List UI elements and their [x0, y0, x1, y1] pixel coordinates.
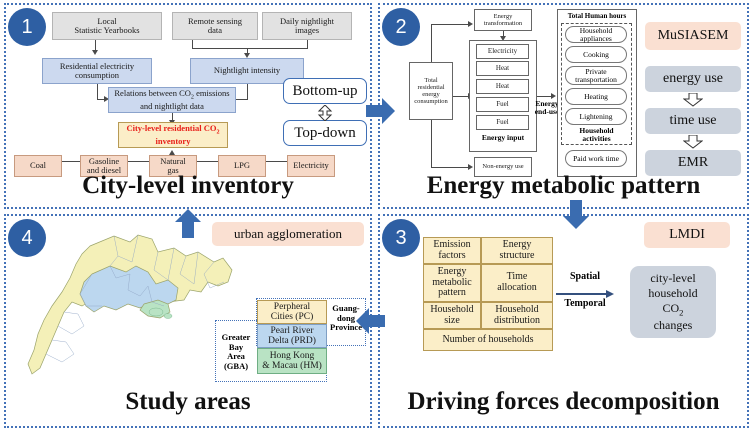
- node-label: LocalStatistic Yearbooks: [74, 17, 139, 35]
- cell-energy-metabolic-pattern: Energymetabolicpattern: [423, 264, 481, 302]
- connector: [192, 48, 247, 49]
- node-label: Remote sensingdata: [188, 17, 242, 35]
- label-spatial: Spatial: [556, 271, 614, 282]
- legend-label: PerpheralCities (PC): [271, 302, 314, 323]
- tag-lmdi: LMDI: [644, 222, 730, 248]
- cell-emission-factors: Emissionfactors: [423, 237, 481, 264]
- arrowhead: [468, 21, 473, 27]
- node-label: Fuel: [496, 119, 508, 127]
- node-relations-co2-nightlight: Relations between CO2 emissionsand night…: [108, 87, 236, 113]
- flow-arrow-q3-to-q4-icon: [355, 306, 385, 341]
- node-label: Relations between CO2 emissionsand night…: [114, 89, 229, 110]
- node-label: Heat: [496, 83, 509, 91]
- guangdong-map: [18, 222, 248, 382]
- spatial-temporal-arrow-icon: [556, 286, 614, 304]
- node-label: city-levelhouseholdCO2changes: [648, 271, 697, 333]
- node-activity-cooking: Cooking: [565, 46, 627, 63]
- node-label: Bottom-up: [292, 83, 357, 100]
- node-label: Top-down: [294, 125, 355, 142]
- node-local-statistic-yearbooks: LocalStatistic Yearbooks: [52, 12, 162, 40]
- node-label: Coal: [30, 161, 46, 170]
- node-total-residential-energy-consumption: Totalresidentialenergyconsumption: [409, 62, 453, 120]
- label-total-human-hours: Total Human hours: [557, 12, 637, 20]
- node-label: Nightlight intensity: [214, 66, 280, 75]
- node-label: Electricity: [488, 48, 517, 56]
- tag-label: LMDI: [669, 227, 705, 243]
- node-label: Fuel: [496, 101, 508, 109]
- node-label: City-level residential CO2inventory: [126, 124, 219, 145]
- cell-label: Householddistribution: [494, 305, 540, 327]
- tag-label: time use: [669, 113, 716, 129]
- node-label: Totalresidentialenergyconsumption: [414, 77, 448, 105]
- quadrant-2-badge: 2: [382, 8, 420, 46]
- cell-household-size: Householdsize: [423, 302, 481, 329]
- node-energy-input-fuel-1: Fuel: [476, 97, 529, 112]
- node-city-level-household-co2-changes: city-levelhouseholdCO2changes: [630, 266, 716, 338]
- cell-label: Energystructure: [500, 240, 535, 262]
- node-label: Energytransformation: [484, 13, 522, 27]
- quadrant-4-caption: Study areas: [4, 388, 372, 416]
- quadrant-2-caption: Energy metabolic pattern: [378, 172, 749, 200]
- connector: [247, 84, 248, 100]
- quadrant-3-badge: 3: [382, 219, 420, 257]
- node-energy-input-fuel-2: Fuel: [476, 115, 529, 130]
- cell-energy-structure: Energystructure: [481, 237, 553, 264]
- node-city-level-residential-co2-inventory: City-level residential CO2inventory: [118, 122, 228, 148]
- node-energy-input-heat-1: Heat: [476, 61, 529, 76]
- node-label: Paid work time: [573, 155, 619, 163]
- cell-label: Energymetabolicpattern: [432, 267, 471, 299]
- tag-label: MuSIASEM: [658, 28, 729, 44]
- cell-number-of-households: Number of households: [423, 329, 553, 351]
- node-energy-input-electricity: Electricity: [476, 44, 529, 59]
- legend-cell-pearl-river-delta: Pearl RiverDelta (PRD): [257, 324, 327, 348]
- quadrant-4-badge: 4: [8, 219, 46, 257]
- quadrant-1-caption: City-level inventory: [4, 172, 372, 200]
- connector: [431, 167, 470, 168]
- label-household-activities: Householdactivities: [561, 127, 632, 144]
- tag-label: energy use: [663, 71, 723, 87]
- cell-label: Number of households: [442, 335, 533, 346]
- node-label: Electricity: [293, 161, 328, 170]
- node-paid-work-time: Paid work time: [565, 150, 627, 167]
- node-label: LPG: [234, 161, 250, 170]
- connector: [431, 24, 432, 62]
- figure-canvas: 1 LocalStatistic Yearbooks Remote sensin…: [0, 0, 753, 432]
- node-label: Heat: [496, 65, 509, 73]
- connector: [97, 84, 98, 100]
- tag-urban-agglomeration: urban agglomeration: [212, 222, 364, 246]
- legend-label: Pearl RiverDelta (PRD): [268, 326, 316, 347]
- legend-label-greater-bay-area: GreaterBayArea(GBA): [216, 333, 256, 371]
- node-label: Householdappliances: [580, 27, 613, 43]
- tag-label: EMR: [678, 155, 708, 171]
- connector: [235, 99, 248, 100]
- tag-label: urban agglomeration: [234, 226, 342, 242]
- cell-household-distribution: Householddistribution: [481, 302, 553, 329]
- node-label: Lightening: [580, 113, 613, 121]
- arrowhead: [92, 50, 98, 55]
- node-daily-nightlight-images: Daily nightlightimages: [262, 12, 352, 40]
- node-residential-electricity-consumption: Residential electricityconsumption: [42, 58, 152, 84]
- node-label: Non-energy use: [482, 163, 523, 170]
- double-arrow-vertical-icon: [316, 105, 334, 126]
- node-label: Heating: [584, 93, 608, 101]
- quadrant-3-caption: Driving forces decomposition: [378, 388, 749, 416]
- flow-arrow-q1-to-q2-icon: [366, 96, 396, 131]
- node-label: Cooking: [583, 51, 609, 59]
- connector: [431, 120, 432, 168]
- quadrant-1-badge: 1: [8, 8, 46, 46]
- flow-arrow-q4-to-q1-icon: [173, 208, 203, 243]
- legend-label: Hong Kong& Macau (HM): [262, 351, 322, 372]
- legend-cell-hong-kong-macau: Hong Kong& Macau (HM): [257, 348, 327, 374]
- cell-label: Emissionfactors: [433, 240, 470, 262]
- label-energy-input: Energy input: [469, 133, 537, 142]
- node-activity-lightening: Lightening: [565, 108, 627, 125]
- node-energy-transformation: Energytransformation: [474, 9, 532, 31]
- node-remote-sensing-data: Remote sensingdata: [172, 12, 258, 40]
- cell-label: Householdsize: [430, 305, 473, 327]
- connector: [431, 24, 470, 25]
- flow-arrow-q2-to-q3-icon: [561, 200, 591, 235]
- cell-label: Timeallocation: [497, 272, 536, 294]
- arrowhead: [468, 164, 473, 170]
- node-energy-input-heat-2: Heat: [476, 79, 529, 94]
- connector: [247, 48, 307, 49]
- connector: [307, 40, 308, 49]
- cell-time-allocation: Timeallocation: [481, 264, 553, 302]
- node-activity-household-appliances: Householdappliances: [565, 26, 627, 43]
- node-label: Residential electricityconsumption: [60, 62, 134, 80]
- tag-energy-use: energy use: [645, 66, 741, 92]
- tag-musiasem: MuSIASEM: [645, 22, 741, 50]
- node-bottom-up: Bottom-up: [283, 78, 367, 104]
- node-activity-heating: Heating: [565, 88, 627, 105]
- node-activity-private-transportation: Privatetransportation: [565, 66, 627, 85]
- legend-cell-peripheral-cities: PerpheralCities (PC): [257, 300, 327, 324]
- node-label: Daily nightlightimages: [280, 17, 334, 35]
- tag-time-use: time use: [645, 108, 741, 134]
- node-label: Privatetransportation: [575, 68, 617, 84]
